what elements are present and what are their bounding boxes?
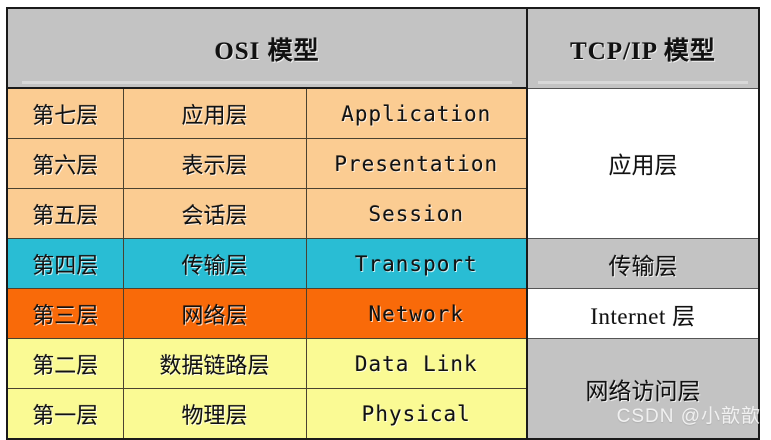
table-header: OSI 模型 TCP/IP 模型 [7,8,759,88]
tcpip-model-title: TCP/IP 模型 [538,13,748,84]
layer-name-en-5: Session [306,189,527,239]
table-row: 第七层 应用层 Application 应用层 [7,88,759,139]
table-body: 第七层 应用层 Application 应用层 第六层 表示层 Presenta… [7,88,759,439]
table-row: 第二层 数据链路层 Data Link 网络访问层 [7,339,759,389]
layer-name-cn-5: 会话层 [123,189,306,239]
layer-level-5: 第五层 [7,189,123,239]
header-row: OSI 模型 TCP/IP 模型 [7,8,759,88]
layer-name-cn-4: 传输层 [123,239,306,289]
layer-level-2: 第二层 [7,339,123,389]
tcpip-layer-network-access: 网络访问层 [527,339,759,440]
tcpip-model-header: TCP/IP 模型 [527,8,759,88]
layer-name-en-1: Physical [306,389,527,440]
layer-level-6: 第六层 [7,139,123,189]
layer-name-cn-1: 物理层 [123,389,306,440]
tcpip-layer-application: 应用层 [527,88,759,239]
layer-name-en-4: Transport [306,239,527,289]
osi-model-header: OSI 模型 [7,8,527,88]
layer-name-cn-3: 网络层 [123,289,306,339]
layer-name-en-3: Network [306,289,527,339]
layer-name-en-2: Data Link [306,339,527,389]
layer-name-en-7: Application [306,88,527,139]
osi-model-title: OSI 模型 [22,13,512,84]
osi-tcpip-comparison-table: OSI 模型 TCP/IP 模型 第七层 应用层 Application 应用层… [6,7,760,440]
tcpip-layer-internet: Internet 层 [527,289,759,339]
layer-name-cn-7: 应用层 [123,88,306,139]
layer-name-en-6: Presentation [306,139,527,189]
layer-level-1: 第一层 [7,389,123,440]
tcpip-layer-transport: 传输层 [527,239,759,289]
layer-name-cn-6: 表示层 [123,139,306,189]
table-row: 第四层 传输层 Transport 传输层 [7,239,759,289]
table-row: 第三层 网络层 Network Internet 层 [7,289,759,339]
layer-level-4: 第四层 [7,239,123,289]
layer-name-cn-2: 数据链路层 [123,339,306,389]
layer-level-3: 第三层 [7,289,123,339]
layer-level-7: 第七层 [7,88,123,139]
